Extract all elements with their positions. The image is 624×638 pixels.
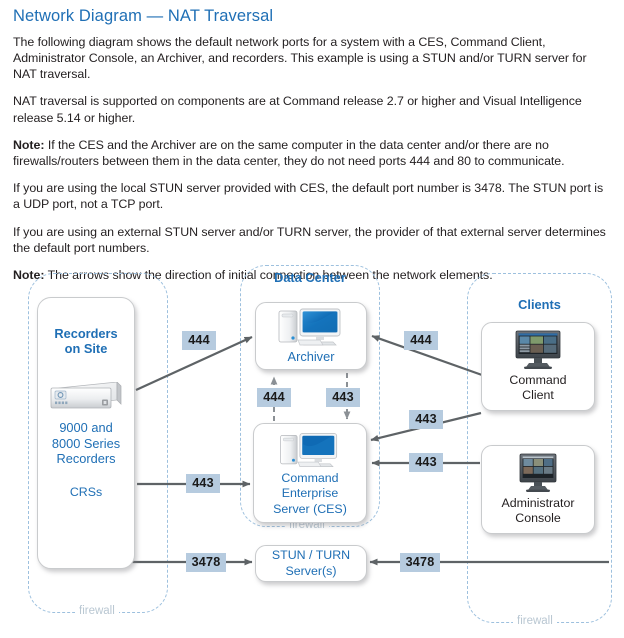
port-badge-client-to-archiver: 444 (404, 331, 438, 350)
node-stun-label-line1: STUN / TURN (272, 548, 350, 564)
note-body: If the CES and the Archiver are on the s… (13, 138, 565, 168)
node-archiver[interactable]: Archiver (255, 302, 367, 370)
paragraph-note-ces-archiver: Note: If the CES and the Archiver are on… (13, 137, 611, 169)
desktop-computer-icon (276, 431, 344, 471)
node-command-enterprise-server[interactable]: Command Enterprise Server (CES) (253, 423, 367, 523)
paragraph-support: NAT traversal is supported on components… (13, 93, 611, 125)
video-wall-monitor-icon (510, 330, 566, 370)
node-recorders-sub-line1: 9000 and (59, 420, 112, 436)
port-badge-rec-to-stun: 3478 (186, 553, 226, 572)
node-ces-label-line1: Command (281, 471, 338, 487)
node-recorders-title-line1: Recorders (54, 326, 117, 341)
node-recorders-on-site[interactable]: Recorders on Site (37, 297, 135, 569)
paragraph-local-stun: If you are using the local STUN server p… (13, 180, 611, 212)
port-badge-client-to-ces: 443 (409, 410, 443, 429)
desktop-computer-icon (274, 307, 348, 349)
page-title: Network Diagram — NAT Traversal (13, 7, 611, 27)
node-stun-label-line2: Server(s) (286, 564, 337, 580)
paragraph-intro: The following diagram shows the default … (13, 34, 611, 83)
port-badge-ces-to-archiver: 444 (257, 388, 291, 407)
node-administrator-console-label-line2: Console (515, 511, 560, 527)
node-command-client-label-line1: Command (509, 373, 566, 389)
document-page: Network Diagram — NAT Traversal The foll… (0, 0, 624, 638)
port-badge-clients-to-stun: 3478 (400, 553, 440, 572)
node-command-client-label-line2: Client (522, 388, 554, 404)
note-prefix: Note: (13, 138, 44, 152)
node-administrator-console-label-line1: Administrator (502, 496, 575, 512)
node-recorders-sub-line2: 8000 Series (52, 436, 120, 452)
port-badge-rec-to-archiver: 444 (182, 331, 216, 350)
node-administrator-console[interactable]: Administrator Console (481, 445, 595, 534)
node-ces-label-line3: Server (CES) (273, 502, 347, 518)
document-text-block: Network Diagram — NAT Traversal The foll… (13, 0, 611, 294)
node-recorders-title-line2: on Site (65, 341, 108, 356)
node-ces-label-line2: Enterprise (282, 486, 338, 502)
recorder-appliance-icon (49, 382, 123, 414)
video-wall-monitor-icon (514, 453, 562, 493)
network-diagram: Data Center Clients firewall firewall fi… (0, 255, 624, 638)
node-recorders-sub-line3: Recorders (56, 451, 115, 467)
port-badge-archiver-to-ces: 443 (326, 388, 360, 407)
node-stun-turn-server[interactable]: STUN / TURN Server(s) (255, 545, 367, 582)
node-recorders-footer: CRSs (70, 485, 102, 499)
paragraph-external-stun: If you are using an external STUN server… (13, 224, 611, 256)
port-badge-rec-to-ces: 443 (186, 474, 220, 493)
node-command-client[interactable]: Command Client (481, 322, 595, 411)
port-badge-admin-to-ces: 443 (409, 453, 443, 472)
node-archiver-label: Archiver (288, 349, 335, 365)
